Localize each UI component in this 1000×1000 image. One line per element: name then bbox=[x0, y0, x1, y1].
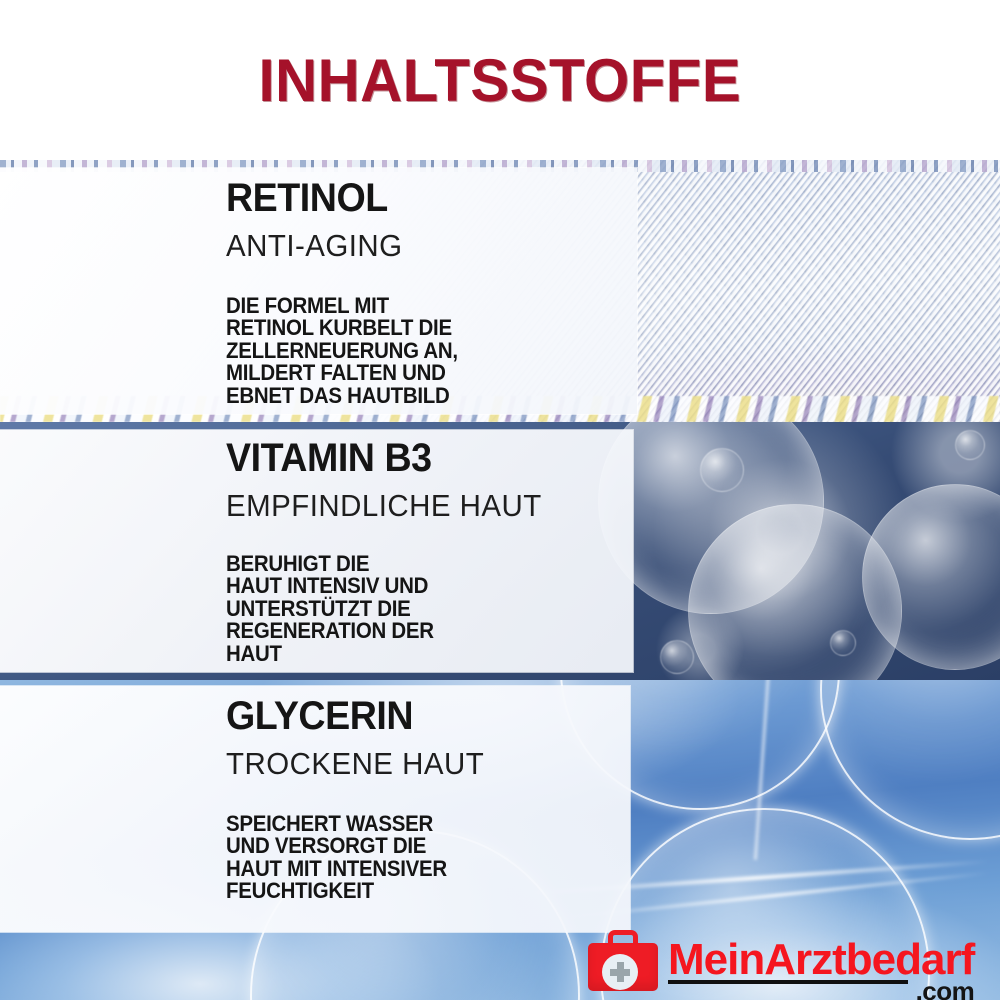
bubble-shape bbox=[830, 630, 856, 656]
kit-cross-icon bbox=[610, 962, 630, 982]
brand-logo-text: MeinArztbedarf .com bbox=[668, 938, 974, 984]
retinol-content: RETINOL ANTI-AGING DIE FORMEL MIT RETINO… bbox=[226, 178, 475, 407]
ingredient-subtitle: TROCKENE HAUT bbox=[226, 748, 484, 779]
bubble-shape bbox=[700, 448, 744, 492]
ingredients-infographic: INHALTSSTOFFE RETINOL ANTI-AGING DIE FOR… bbox=[0, 0, 1000, 1000]
ingredient-description: BERUHIGT DIE HAUT INTENSIV UND UNTERSTÜT… bbox=[226, 553, 535, 665]
ingredient-description: SPEICHERT WASSER UND VERSORGT DIE HAUT M… bbox=[226, 813, 479, 903]
glycerin-content: GLYCERIN TROCKENE HAUT SPEICHERT WASSER … bbox=[226, 696, 498, 903]
ingredient-description: DIE FORMEL MIT RETINOL KURBELT DIE ZELLE… bbox=[226, 295, 458, 407]
ingredient-subtitle: EMPFINDLICHE HAUT bbox=[226, 490, 542, 521]
ingredient-name: VITAMIN B3 bbox=[226, 438, 538, 478]
ingredient-subtitle: ANTI-AGING bbox=[226, 230, 463, 261]
brand-tld: .com bbox=[916, 978, 975, 1000]
ingredient-band-retinol: RETINOL ANTI-AGING DIE FORMEL MIT RETINO… bbox=[0, 160, 1000, 422]
glass-sphere-shape bbox=[820, 680, 1000, 840]
ingredient-band-vitamin-b3: VITAMIN B3 EMPFINDLICHE HAUT BERUHIGT DI… bbox=[0, 422, 1000, 680]
page-title: INHALTSSTOFFE bbox=[259, 46, 742, 115]
vitamin-b3-content: VITAMIN B3 EMPFINDLICHE HAUT BERUHIGT DI… bbox=[226, 438, 558, 665]
ingredient-name: RETINOL bbox=[226, 178, 460, 218]
bubble-shape bbox=[955, 430, 985, 460]
title-bar: INHALTSSTOFFE bbox=[0, 0, 1000, 160]
first-aid-kit-icon bbox=[586, 930, 660, 992]
bubble-shape bbox=[660, 640, 694, 674]
brand-logo[interactable]: MeinArztbedarf .com bbox=[580, 922, 1000, 1000]
ingredient-name: GLYCERIN bbox=[226, 696, 481, 736]
